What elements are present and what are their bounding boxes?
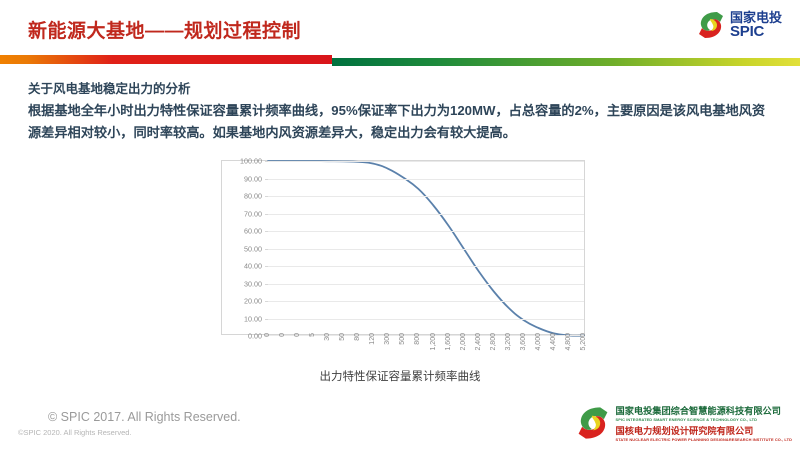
footer-logo-line2-en: STATE NUCLEAR ELECTRIC POWER PLANNING DE…: [616, 437, 792, 442]
chart-gridline: [268, 301, 584, 302]
chart-gridline: [268, 179, 584, 180]
chart-plot-area: [268, 161, 584, 336]
footer-logo-line1: 国家电投集团综合智慧能源科技有限公司 SPIC INTEGRATED SMART…: [616, 403, 792, 422]
chart-x-tick-label: 5,200: [580, 333, 587, 351]
chart-gridline: [268, 319, 584, 320]
chart-x-tick-label: 0: [264, 333, 271, 337]
chart-y-tick-mark: [265, 161, 268, 162]
footer-logo-line2: 国核电力规划设计研究院有限公司 STATE NUCLEAR ELECTRIC P…: [616, 423, 792, 442]
chart-x-tick-label: 50: [339, 333, 346, 341]
chart-y-tick-label: 80.00: [244, 192, 262, 201]
chart-x-tick-label: 3,600: [520, 333, 527, 351]
chart-x-tick-label: 300: [384, 333, 391, 345]
chart-x-tick-label: 5: [309, 333, 316, 337]
chart-gridline: [268, 249, 584, 250]
spic-recycle-logo-icon: [576, 405, 610, 441]
chart-y-tick-label: 20.00: [244, 297, 262, 306]
chart-y-tick-label: 50.00: [244, 244, 262, 253]
chart-x-tick-label: 2,400: [475, 333, 482, 351]
chart-x-tick-label: 2,000: [460, 333, 467, 351]
chart-gridline: [268, 231, 584, 232]
footer-copyright-small: ©SPIC 2020. All Rights Reserved.: [18, 428, 132, 437]
chart-x-tick-label: 4,400: [550, 333, 557, 351]
chart-x-tick-label: 0: [294, 333, 301, 337]
body-paragraph: 根据基地全年小时出力特性保证容量累计频率曲线，95%保证率下出力为120MW，占…: [28, 100, 770, 144]
spic-logo-en: SPIC: [730, 24, 782, 39]
header-accent-bar-right: [332, 58, 800, 66]
chart-gridline: [268, 214, 584, 215]
chart-plot-wrapper: 100.0090.0080.0070.0060.0050.0040.0030.0…: [222, 161, 586, 336]
chart-y-tick-mark: [265, 284, 268, 285]
footer-logo-line2-cn: 国核电力规划设计研究院有限公司: [616, 423, 792, 437]
chart-y-tick-label: 100.00: [240, 157, 262, 166]
chart-gridline: [268, 284, 584, 285]
header-accent-bar-left: [0, 55, 332, 64]
chart-x-tick-label: 500: [399, 333, 406, 345]
chart-y-tick-mark: [265, 231, 268, 232]
footer-logo-text: 国家电投集团综合智慧能源科技有限公司 SPIC INTEGRATED SMART…: [616, 403, 792, 442]
spic-logo-footer: 国家电投集团综合智慧能源科技有限公司 SPIC INTEGRATED SMART…: [576, 403, 792, 442]
chart-x-tick-label: 1,200: [430, 333, 437, 351]
chart-y-tick-mark: [265, 266, 268, 267]
spic-logo-text: 国家电投 SPIC: [730, 11, 782, 39]
chart-y-tick-mark: [265, 179, 268, 180]
chart-x-tick-label: 1,600: [445, 333, 452, 351]
page-title: 新能源大基地——规划过程控制: [28, 16, 301, 43]
slide-root: 新能源大基地——规划过程控制 国家电投 SPIC 关于风电基地稳定出力的分析 根…: [0, 0, 800, 450]
section-subheading: 关于风电基地稳定出力的分析: [28, 78, 191, 97]
chart-y-tick-mark: [265, 301, 268, 302]
chart-y-tick-label: 70.00: [244, 209, 262, 218]
chart-x-tick-label: 4,000: [535, 333, 542, 351]
chart-x-tick-label: 0: [279, 333, 286, 337]
chart-x-tick-label: 30: [324, 333, 331, 341]
chart-y-tick-mark: [265, 196, 268, 197]
chart-y-tick-label: 60.00: [244, 227, 262, 236]
chart-x-axis-labels: 00053050801203005008001,2001,6002,0002,4…: [221, 333, 585, 363]
chart-caption: 出力特性保证容量累计频率曲线: [0, 368, 800, 384]
chart-y-tick-mark: [265, 319, 268, 320]
chart-x-tick-label: 2,800: [490, 333, 497, 351]
chart-x-tick-label: 120: [369, 333, 376, 345]
chart-y-tick-mark: [265, 214, 268, 215]
spic-logo-header: 国家电投 SPIC: [697, 10, 782, 40]
chart-container: 100.0090.0080.0070.0060.0050.0040.0030.0…: [221, 160, 585, 335]
chart-y-tick-mark: [265, 249, 268, 250]
footer-logo-line1-en: SPIC INTEGRATED SMART ENERGY SCIENCE & T…: [616, 417, 792, 422]
footer-copyright-main: © SPIC 2017. All Rights Reserved.: [48, 410, 241, 424]
chart-gridline: [268, 196, 584, 197]
footer-logo-line1-cn: 国家电投集团综合智慧能源科技有限公司: [616, 403, 792, 417]
spic-recycle-logo-icon: [697, 10, 725, 40]
chart-x-tick-label: 3,200: [505, 333, 512, 351]
chart-y-axis-labels: 100.0090.0080.0070.0060.0050.0040.0030.0…: [224, 161, 266, 336]
chart-y-tick-label: 10.00: [244, 314, 262, 323]
chart-y-tick-label: 40.00: [244, 262, 262, 271]
chart-y-tick-label: 30.00: [244, 279, 262, 288]
chart-x-tick-label: 4,800: [565, 333, 572, 351]
chart-x-tick-label: 80: [354, 333, 361, 341]
chart-gridline: [268, 161, 584, 162]
slide-header: 新能源大基地——规划过程控制 国家电投 SPIC: [0, 0, 800, 54]
chart-y-tick-label: 90.00: [244, 174, 262, 183]
chart-gridline: [268, 266, 584, 267]
chart-x-tick-label: 800: [414, 333, 421, 345]
